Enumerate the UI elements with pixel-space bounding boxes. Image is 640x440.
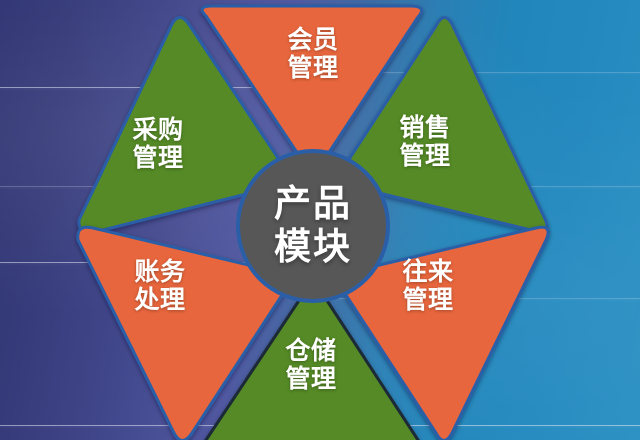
diagram-canvas: 会员 管理 销售 管理 往来 管理 仓储 管理 账务 处理 采购 管理 产品 模… — [0, 0, 640, 440]
center-node-circle[interactable] — [236, 149, 390, 303]
hexagon-petal-diagram — [0, 0, 640, 440]
